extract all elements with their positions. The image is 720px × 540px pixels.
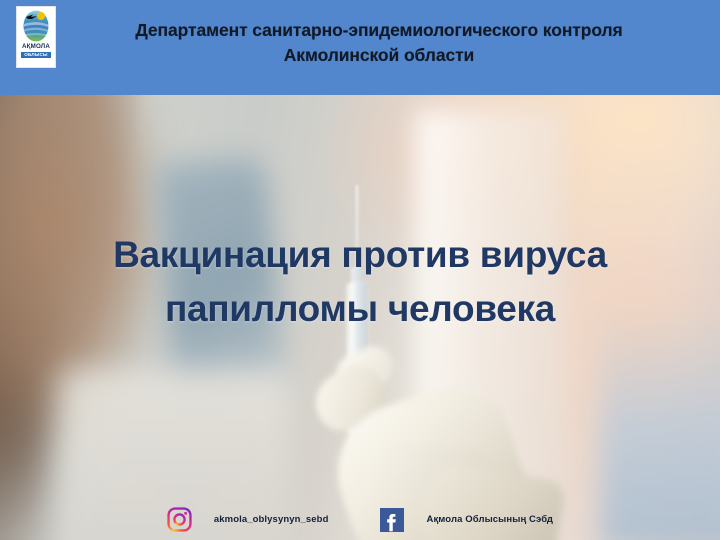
page-title-line-2: папилломы человека <box>0 282 720 336</box>
header-title-line-1: Департамент санитарно-эпидемиологическог… <box>135 20 622 40</box>
header-title-line-2: Акмолинской области <box>62 43 696 68</box>
organization-logo: АҚМОЛА ОБЛЫСЫ <box>16 6 56 68</box>
header-band: АҚМОЛА ОБЛЫСЫ Департамент санитарно-эпид… <box>0 0 720 95</box>
header-title: Департамент санитарно-эпидемиологическог… <box>56 0 720 68</box>
instagram-handle: akmola_oblysynyn_sebd <box>214 514 329 525</box>
facebook-handle: Ақмола Облысының Сэбд <box>426 514 553 525</box>
social-account-facebook[interactable]: Ақмола Облысының Сэбд <box>380 508 553 532</box>
page-title-line-1: Вакцинация против вируса <box>0 228 720 282</box>
facebook-icon[interactable] <box>380 508 404 532</box>
social-footer: akmola_oblysynyn_sebd Ақмола Облысының С… <box>0 507 720 532</box>
social-account-instagram[interactable]: akmola_oblysynyn_sebd <box>167 507 329 532</box>
page-title: Вакцинация против вируса папилломы челов… <box>0 228 720 336</box>
logo-text-top: АҚМОЛА <box>22 44 50 50</box>
akmola-region-emblem-icon <box>21 9 51 43</box>
logo-text-bottom: ОБЛЫСЫ <box>21 52 51 59</box>
instagram-icon[interactable] <box>167 507 192 532</box>
presentation-slide: АҚМОЛА ОБЛЫСЫ Департамент санитарно-эпид… <box>0 0 720 540</box>
